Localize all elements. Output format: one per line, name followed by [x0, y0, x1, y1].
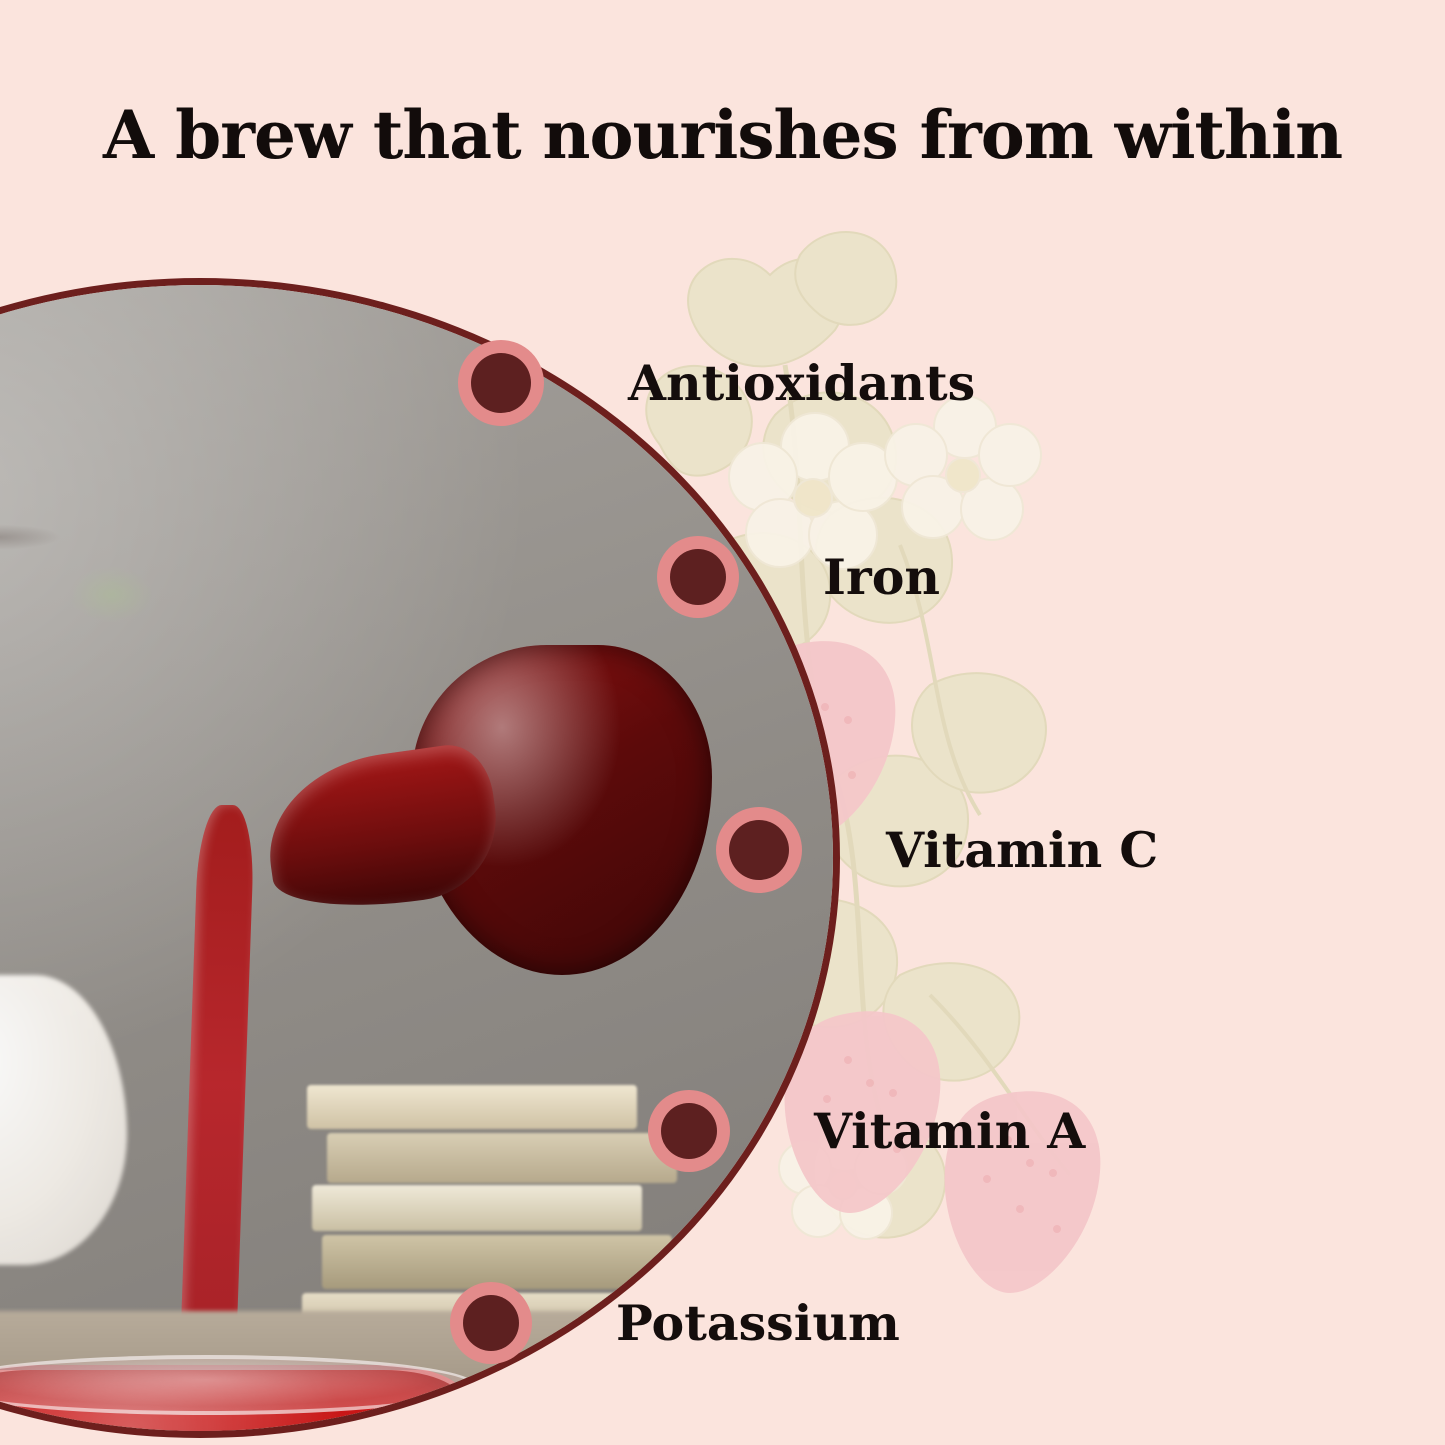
book-stack-item	[307, 1085, 637, 1129]
benefit-label: Iron	[823, 548, 940, 606]
bullet-dot-icon	[458, 340, 544, 426]
bullet-dot-icon	[450, 1282, 532, 1364]
blurred-jug	[0, 975, 127, 1265]
benefit-item-vitamin-a: Vitamin A	[648, 1090, 1085, 1172]
benefit-label: Antioxidants	[628, 354, 975, 412]
book-stack-item	[322, 1235, 672, 1289]
benefit-label: Vitamin A	[814, 1102, 1085, 1160]
benefit-label: Vitamin C	[886, 821, 1158, 879]
book-stack-item	[312, 1185, 642, 1231]
tea-photo-circle	[0, 278, 840, 1438]
benefit-item-vitamin-c: Vitamin C	[716, 807, 1158, 893]
tea-photo	[0, 285, 833, 1431]
bullet-dot-icon	[716, 807, 802, 893]
page-title: A brew that nourishes from within	[0, 96, 1445, 174]
benefit-label: Potassium	[616, 1294, 900, 1352]
poster-canvas: A brew that nourishes from within	[0, 0, 1445, 1445]
benefit-item-potassium: Potassium	[450, 1282, 900, 1364]
benefit-item-antioxidants: Antioxidants	[458, 340, 975, 426]
bullet-dot-icon	[657, 536, 739, 618]
book-stack-item	[327, 1133, 677, 1183]
benefit-item-iron: Iron	[657, 536, 940, 618]
bullet-dot-icon	[648, 1090, 730, 1172]
